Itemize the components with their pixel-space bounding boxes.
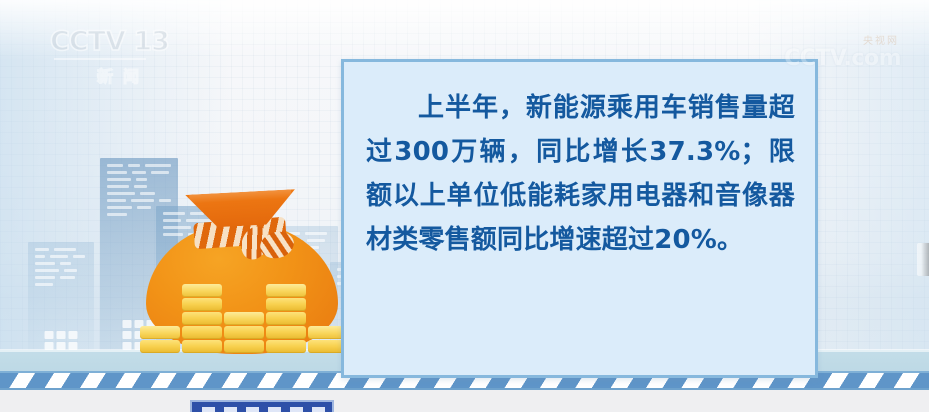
gold-coin xyxy=(182,340,222,353)
gold-coin xyxy=(140,340,180,353)
gold-coin xyxy=(224,312,264,325)
news-text-body: 上半年，新能源乘用车销售量超过300万辆，同比增长37.3%；限额以上单位低能耗… xyxy=(366,86,795,262)
building-windows xyxy=(35,248,87,317)
gold-coin xyxy=(266,340,306,353)
right-edge-artifact xyxy=(917,243,929,276)
gold-coin xyxy=(224,340,264,353)
below-band-area xyxy=(0,390,929,412)
gold-coin xyxy=(266,284,306,297)
news-text-panel: 上半年，新能源乘用车销售量超过300万辆，同比增长37.3%；限额以上单位低能耗… xyxy=(341,59,818,378)
building-grid-windows xyxy=(45,331,78,350)
broadcast-screenshot: 上半年，新能源乘用车销售量超过300万辆，同比增长37.3%；限额以上单位低能耗… xyxy=(0,0,929,412)
news-text-panel-inner: 上半年，新能源乘用车销售量超过300万辆，同比增长37.3%；限额以上单位低能耗… xyxy=(366,86,795,361)
gold-coin xyxy=(266,326,306,339)
gold-coin xyxy=(266,312,306,325)
gold-coin xyxy=(224,326,264,339)
building-1 xyxy=(28,242,94,354)
lower-third-banner xyxy=(190,400,334,412)
coin-stack xyxy=(182,284,222,354)
coin-stack xyxy=(224,312,264,354)
gold-coin xyxy=(182,312,222,325)
gold-coin xyxy=(182,326,222,339)
gold-coin xyxy=(140,326,180,339)
coin-stack xyxy=(140,326,180,354)
gold-coin-stacks xyxy=(136,278,356,354)
gold-coin xyxy=(266,298,306,311)
background-top-fade xyxy=(0,0,929,60)
gold-coin xyxy=(182,284,222,297)
coin-stack xyxy=(266,284,306,354)
money-bag-illustration xyxy=(136,134,356,354)
gold-coin xyxy=(182,298,222,311)
